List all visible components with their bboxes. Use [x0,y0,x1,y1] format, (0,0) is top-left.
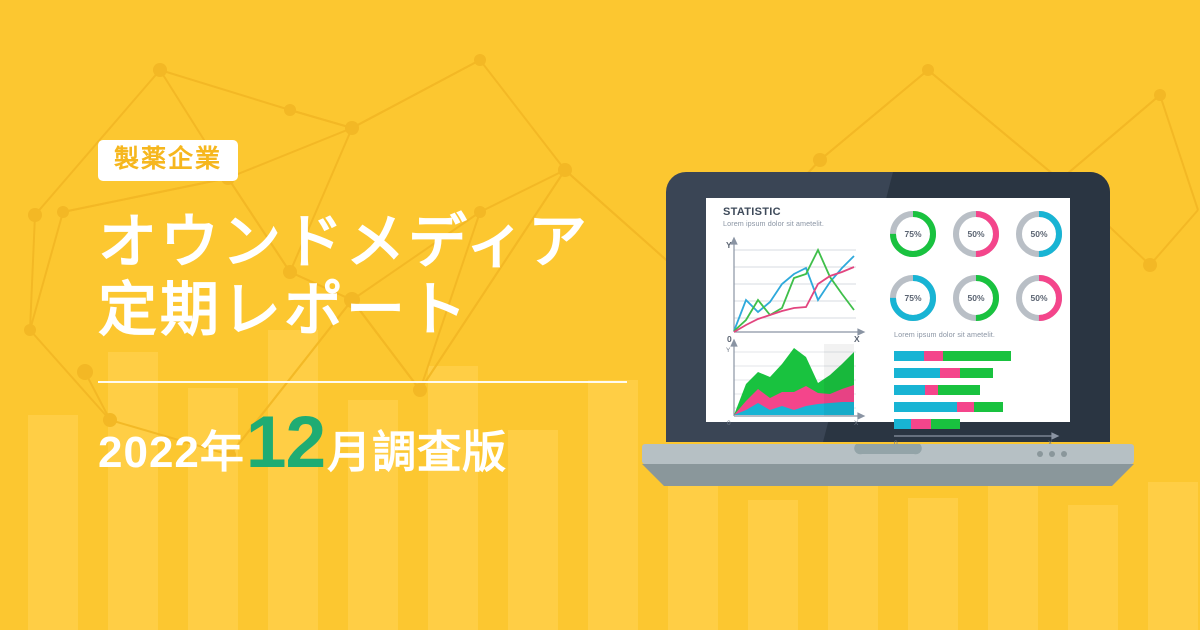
bars-subtitle: Lorem ipsum dolor sit ametelit. [894,330,1074,339]
donut-4-label: 75% [904,293,921,303]
category-badge: 製薬企業 [98,140,238,181]
divider [98,381,627,383]
line-chart-origin-label: 0 [727,334,732,344]
statistic-title: STATISTIC [723,206,913,218]
area-chart-x-label: X [854,420,859,427]
area-chart-shadow-overlay [824,344,854,416]
table-row [894,351,1011,361]
area-chart-origin-label: 0 [727,420,731,427]
laptop-base [642,444,1134,486]
table-row [894,368,993,378]
report-date-suffix: 月調査版 [327,416,507,480]
laptop-screen: STATISTIC Lorem ipsum dolor sit ametelit… [706,198,1074,447]
line-chart-y-label: Y [726,240,732,250]
base-indicator-dots [1037,451,1067,457]
donut-3-label: 50% [1030,229,1047,239]
hero-text-block: 製薬企業 オウンドメディア 定期レポート 2022年 12 月調査版 [98,140,658,480]
trackpad-notch [854,444,922,454]
page-title-line-1: オウンドメディア [98,208,658,276]
page-title-line-2: 定期レポート [98,276,658,344]
page-title: オウンドメディア 定期レポート [98,208,658,345]
line-chart-x-label: X [854,334,860,344]
donut-2-label: 50% [967,229,984,239]
report-date-year: 2022年 [98,416,245,480]
report-date-month-number: 12 [246,410,325,476]
donut-1-label: 75% [904,229,921,239]
donut-6-label: 50% [1030,293,1047,303]
report-date: 2022年 12 月調査版 [98,410,658,480]
laptop-illustration: STATISTIC Lorem ipsum dolor sit ametelit… [628,172,1148,492]
donut-5-label: 50% [967,293,984,303]
table-row [894,419,960,429]
table-row [894,402,1003,412]
table-row [894,385,980,395]
statistic-subtitle: Lorem ipsum dolor sit ametelit. [723,219,913,228]
area-chart-y-label: Y [726,347,731,354]
